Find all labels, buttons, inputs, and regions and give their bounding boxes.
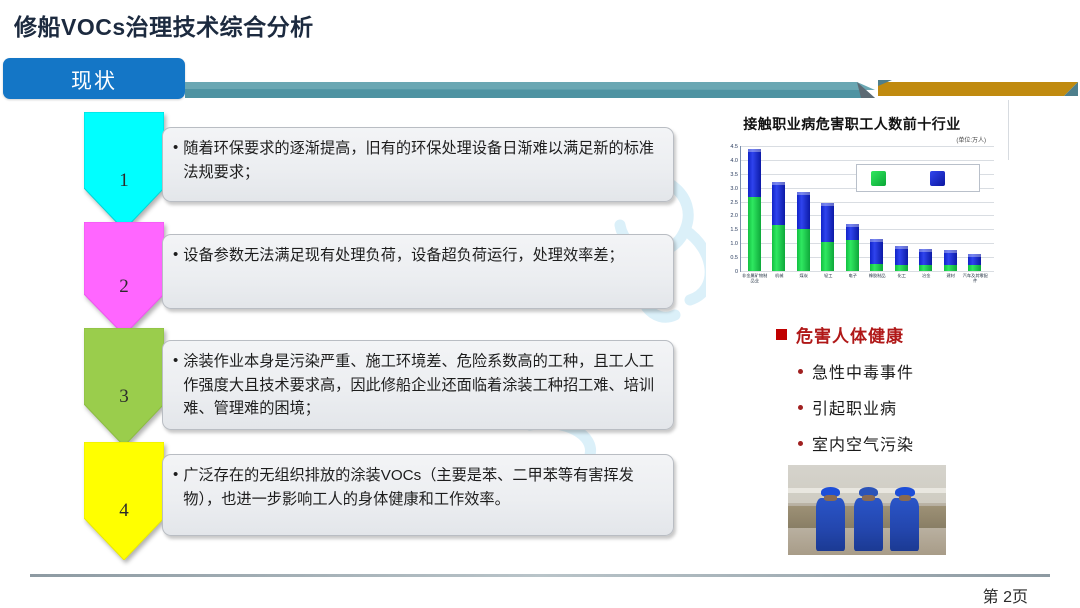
chart-bar-cap — [797, 192, 810, 195]
chart-x-tick: 汽车及其零配件 — [962, 274, 988, 284]
section-tab[interactable]: 现状 — [3, 58, 185, 99]
chart-bar-cap — [870, 239, 883, 242]
chart-bar-segment-blue — [748, 149, 761, 198]
chart-bar-segment-green — [944, 265, 957, 271]
chart-bar-cap — [919, 249, 932, 252]
chart-bar-segment-blue — [968, 254, 981, 265]
worker-body — [890, 498, 919, 552]
worker-body — [854, 498, 883, 552]
health-item-label: 室内空气污染 — [812, 431, 914, 455]
chart-bar-segment-green — [919, 265, 932, 271]
chart-bar-segment-green — [895, 265, 908, 271]
health-item: 引起职业病 — [798, 395, 1006, 419]
step-text-4: 广泛存在的无组织排放的涂装VOCs（主要是苯、二甲苯等有害挥发物），也进一步影响… — [183, 464, 661, 511]
chart-bar-segment-blue — [821, 203, 834, 242]
step-textbox-2: • 设备参数无法满足现有处理负荷，设备超负荷运行，处理效率差； — [162, 234, 674, 309]
workers-photo — [787, 464, 947, 556]
chart-bar-segment-blue — [870, 239, 883, 264]
chart-bar-segment-green — [797, 229, 810, 271]
chart-x-tick: 机械 — [766, 274, 792, 279]
worker-figure — [851, 487, 886, 552]
chart-y-tick: 4.5 — [730, 144, 738, 150]
health-item-label: 引起职业病 — [812, 395, 897, 419]
red-square-marker-icon — [776, 329, 787, 340]
bullet-marker: • — [173, 464, 178, 487]
step-text-1: 随着环保要求的逐渐提高，旧有的环保处理设备日渐难以满足新的标准法规要求； — [183, 137, 661, 184]
teal-rule-decoration — [185, 80, 875, 98]
chart-y-tick: 0.5 — [730, 255, 738, 261]
occupational-disease-chart: 接触职业病危害职工人数前十行业 (单位:万人) 00.51.01.52.02.5… — [706, 108, 998, 308]
chart-bar-segment-blue — [944, 250, 957, 265]
footer-divider — [30, 574, 1050, 577]
bullet-marker: • — [173, 350, 178, 373]
chart-gridline: 4.5 — [741, 146, 994, 147]
bullet-dot-icon — [798, 441, 803, 446]
chart-x-tick: 橡胶制品 — [864, 274, 890, 279]
chart-x-tick: 非金属矿物制品业 — [742, 274, 768, 284]
step-number-2: 2 — [84, 276, 164, 298]
step-number-1: 1 — [84, 170, 164, 192]
chart-bar-segment-blue — [797, 192, 810, 230]
chart-legend — [856, 164, 980, 192]
step-textbox-1: • 随着环保要求的逐渐提高，旧有的环保处理设备日渐难以满足新的标准法规要求； — [162, 127, 674, 202]
chart-bar-cap — [846, 224, 859, 227]
chart-bar-segment-green — [870, 264, 883, 271]
step-text-2: 设备参数无法满足现有处理负荷，设备超负荷运行，处理效率差； — [183, 244, 661, 268]
chart-x-tick: 化工 — [889, 274, 915, 279]
chart-bar-segment-green — [968, 265, 981, 271]
chart-bar-segment-green — [846, 240, 859, 271]
chart-bar-segment-green — [821, 242, 834, 271]
chart-y-tick: 1.5 — [730, 227, 738, 233]
health-item: 急性中毒事件 — [798, 359, 1006, 383]
chart-bar-cap — [748, 149, 761, 152]
chart-bar-segment-green — [772, 225, 785, 271]
chart-y-tick: 2.0 — [730, 213, 738, 219]
steps-list: 1 • 随着环保要求的逐渐提高，旧有的环保处理设备日渐难以满足新的标准法规要求；… — [84, 112, 674, 557]
chart-y-tick: 3.5 — [730, 172, 738, 178]
right-divider — [1008, 100, 1009, 160]
chart-bar-cap — [895, 246, 908, 249]
chart-bar-cap — [821, 203, 834, 206]
gold-rule-decoration — [878, 80, 1078, 96]
worker-figure — [813, 487, 848, 552]
chart-x-tick: 冶金 — [913, 274, 939, 279]
step-textbox-4: • 广泛存在的无组织排放的涂装VOCs（主要是苯、二甲苯等有害挥发物），也进一步… — [162, 454, 674, 536]
chart-bar-segment-blue — [772, 182, 785, 225]
step-number-3: 3 — [84, 386, 164, 408]
page-number: 第 2页 — [983, 583, 1028, 607]
worker-body — [816, 498, 845, 552]
chart-x-tick: 建材 — [938, 274, 964, 279]
chart-y-tick: 4.0 — [730, 158, 738, 164]
step-number-4: 4 — [84, 500, 164, 522]
health-item: 室内空气污染 — [798, 431, 1006, 455]
chart-x-tick: 轻工 — [815, 274, 841, 279]
chart-y-tick: 0 — [735, 269, 738, 275]
bullet-marker: • — [173, 244, 178, 267]
chart-title: 接触职业病危害职工人数前十行业 — [706, 114, 998, 134]
legend-swatch-blue-icon — [930, 171, 945, 186]
chart-bar-cap — [772, 182, 785, 185]
bullet-dot-icon — [798, 405, 803, 410]
chart-y-tick: 1.0 — [730, 241, 738, 247]
health-heading: 危害人体健康 — [796, 322, 904, 347]
health-heading-row: 危害人体健康 — [776, 322, 1006, 347]
chart-y-tick: 3.0 — [730, 186, 738, 192]
chart-unit-label: (单位:万人) — [956, 135, 986, 144]
chart-y-tick: 2.5 — [730, 200, 738, 206]
bullet-marker: • — [173, 137, 178, 160]
chart-gridline: 4.0 — [741, 160, 994, 161]
chart-x-tick: 电子 — [840, 274, 866, 279]
step-text-3: 涂装作业本身是污染严重、施工环境差、危险系数高的工种，且工人工作强度大且技术要求… — [183, 350, 661, 421]
worker-face — [862, 495, 875, 501]
bullet-dot-icon — [798, 369, 803, 374]
worker-face — [824, 495, 837, 501]
chart-bar-segment-blue — [846, 224, 859, 241]
step-textbox-3: • 涂装作业本身是污染严重、施工环境差、危险系数高的工种，且工人工作强度大且技术… — [162, 340, 674, 430]
chart-bar-segment-blue — [895, 246, 908, 265]
chart-bar-cap — [944, 250, 957, 253]
legend-swatch-green-icon — [871, 171, 886, 186]
chart-bar-segment-blue — [919, 249, 932, 266]
page-title: 修船VOCs治理技术综合分析 — [14, 8, 314, 42]
worker-figure — [888, 487, 923, 552]
chart-x-tick: 煤炭 — [791, 274, 817, 279]
worker-face — [899, 495, 912, 501]
health-hazards-block: 危害人体健康 急性中毒事件 引起职业病 室内空气污染 — [776, 322, 1006, 455]
health-item-label: 急性中毒事件 — [812, 359, 914, 383]
section-tab-label: 现状 — [3, 65, 185, 95]
chart-bar-cap — [968, 254, 981, 257]
chart-bar-segment-green — [748, 197, 761, 271]
chart-gridline: 0 — [741, 271, 994, 272]
